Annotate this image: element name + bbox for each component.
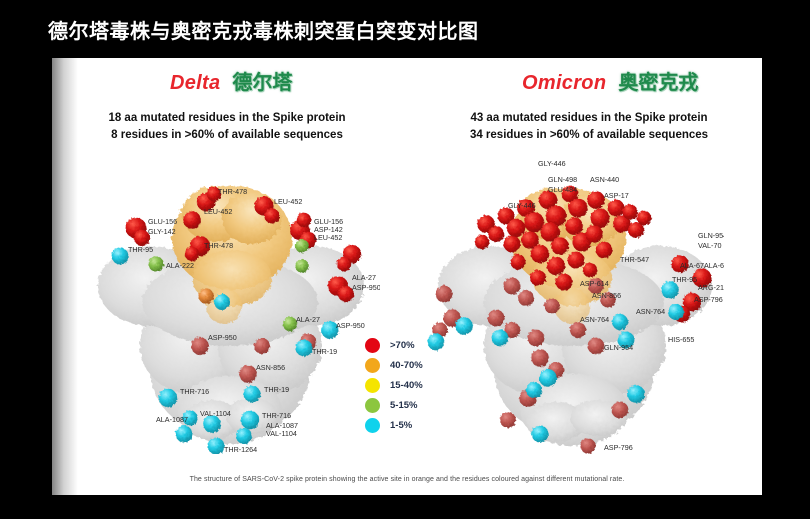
delta-spike-structure: GLU-156 GLY-142 THR-478 LEU-452 LEU-452 … xyxy=(80,154,380,454)
svg-text:HIS-655: HIS-655 xyxy=(668,335,694,344)
omicron-spike-structure: GLY-446 GLN-498 ASN-440 GLU-484 ASP-17 G… xyxy=(424,154,724,454)
svg-text:ASP-796: ASP-796 xyxy=(694,295,723,304)
svg-text:THR-547: THR-547 xyxy=(620,255,649,264)
svg-text:LEU-452: LEU-452 xyxy=(204,207,232,216)
svg-text:ASP-614: ASP-614 xyxy=(580,279,609,288)
omicron-heading-en: Omicron xyxy=(522,72,606,95)
legend-dot-icon xyxy=(365,398,380,413)
svg-text:ASN-856: ASN-856 xyxy=(256,363,285,372)
legend-item: 1-5% xyxy=(365,417,423,433)
svg-text:ALA-1087: ALA-1087 xyxy=(156,415,188,424)
slide-panel: Delta 德尔塔 Omicron 奥密克戎 18 aa mutated res… xyxy=(52,58,762,495)
legend-label: >70% xyxy=(390,340,415,351)
svg-text:THR-95: THR-95 xyxy=(128,245,153,254)
slide-canvas: 德尔塔毒株与奥密克戎毒株刺突蛋白突变对比图 Delta 德尔塔 Omicron … xyxy=(0,0,810,519)
legend-label: 40-70% xyxy=(390,360,423,371)
svg-text:THR-95: THR-95 xyxy=(672,275,697,284)
legend-label: 15-40% xyxy=(390,380,423,391)
svg-text:THR-478: THR-478 xyxy=(218,187,247,196)
svg-text:THR-716: THR-716 xyxy=(180,387,209,396)
page-title: 德尔塔毒株与奥密克戎毒株刺突蛋白突变对比图 xyxy=(48,15,479,44)
svg-text:ASP-796: ASP-796 xyxy=(604,443,633,452)
svg-text:GLY-446: GLY-446 xyxy=(508,201,536,210)
legend-label: 5-15% xyxy=(390,400,417,411)
svg-text:ASP-950: ASP-950 xyxy=(336,321,365,330)
svg-text:ALA-27: ALA-27 xyxy=(352,273,376,282)
svg-text:GLY-446: GLY-446 xyxy=(538,159,566,168)
svg-text:ASN-856: ASN-856 xyxy=(592,291,621,300)
legend-item: >70% xyxy=(365,337,423,353)
legend-item: 5-15% xyxy=(365,397,423,413)
legend-label: 1-5% xyxy=(390,420,412,431)
legend-dot-icon xyxy=(365,378,380,393)
legend-item: 40-70% xyxy=(365,357,423,373)
svg-text:GLN-954: GLN-954 xyxy=(698,231,724,240)
svg-text:THR-478: THR-478 xyxy=(204,241,233,250)
figure-caption: The structure of SARS-CoV-2 spike protei… xyxy=(52,476,762,483)
legend-dot-icon xyxy=(365,338,380,353)
delta-structure-svg: GLU-156 GLY-142 THR-478 LEU-452 LEU-452 … xyxy=(80,154,380,454)
delta-heading-zh: 德尔塔 xyxy=(232,66,292,95)
delta-heading-en: Delta xyxy=(170,72,220,95)
svg-text:ASP-950: ASP-950 xyxy=(208,333,237,342)
svg-text:VAL-1104: VAL-1104 xyxy=(200,409,231,418)
svg-text:ALA-222: ALA-222 xyxy=(166,261,194,270)
svg-text:THR-1264: THR-1264 xyxy=(224,445,257,454)
svg-text:GLN-498: GLN-498 xyxy=(548,175,577,184)
omicron-stats: 43 aa mutated residues in the Spike prot… xyxy=(424,110,754,144)
svg-text:VAL-1104: VAL-1104 xyxy=(266,429,297,438)
svg-text:ASP-17: ASP-17 xyxy=(604,191,629,200)
svg-text:LEU-452: LEU-452 xyxy=(274,197,302,206)
title-bar: 德尔塔毒株与奥密克戎毒株刺突蛋白突变对比图 xyxy=(0,0,810,58)
omicron-stat-line-1: 43 aa mutated residues in the Spike prot… xyxy=(424,110,754,127)
omicron-heading-zh: 奥密克戎 xyxy=(618,66,698,95)
svg-text:ASP-950: ASP-950 xyxy=(352,283,380,292)
svg-text:ALA-67: ALA-67 xyxy=(680,261,704,270)
delta-stats: 18 aa mutated residues in the Spike prot… xyxy=(62,110,392,144)
svg-text:ARG-214: ARG-214 xyxy=(698,283,724,292)
svg-text:ASN-764: ASN-764 xyxy=(636,307,665,316)
mutation-rate-legend: >70% 40-70% 15-40% 5-15% 1-5% xyxy=(365,337,423,433)
svg-text:ALA-67: ALA-67 xyxy=(704,261,724,270)
svg-text:ASN-440: ASN-440 xyxy=(590,175,619,184)
delta-residue-orange xyxy=(198,288,213,303)
svg-text:THR-716: THR-716 xyxy=(262,411,291,420)
svg-text:THR-19: THR-19 xyxy=(264,385,289,394)
svg-text:GLU-484: GLU-484 xyxy=(548,185,577,194)
legend-dot-icon xyxy=(365,418,380,433)
svg-text:GLY-142: GLY-142 xyxy=(148,227,176,236)
legend-dot-icon xyxy=(365,358,380,373)
legend-item: 15-40% xyxy=(365,377,423,393)
omicron-stat-line-2: 34 residues in >60% of available sequenc… xyxy=(424,127,754,144)
delta-stat-line-1: 18 aa mutated residues in the Spike prot… xyxy=(62,110,392,127)
svg-text:GLN-954: GLN-954 xyxy=(604,343,633,352)
svg-text:GLU-156: GLU-156 xyxy=(148,217,177,226)
omicron-structure-svg: GLY-446 GLN-498 ASN-440 GLU-484 ASP-17 G… xyxy=(424,154,724,454)
svg-text:LEU-452: LEU-452 xyxy=(314,233,342,242)
svg-text:ASN-764: ASN-764 xyxy=(580,315,609,324)
svg-text:VAL-70: VAL-70 xyxy=(698,241,721,250)
delta-stat-line-2: 8 residues in >60% of available sequence… xyxy=(62,127,392,144)
svg-text:THR-19: THR-19 xyxy=(312,347,337,356)
svg-text:ALA-27: ALA-27 xyxy=(296,315,320,324)
delta-heading: Delta 德尔塔 xyxy=(170,66,292,95)
omicron-heading: Omicron 奥密克戎 xyxy=(522,66,698,95)
